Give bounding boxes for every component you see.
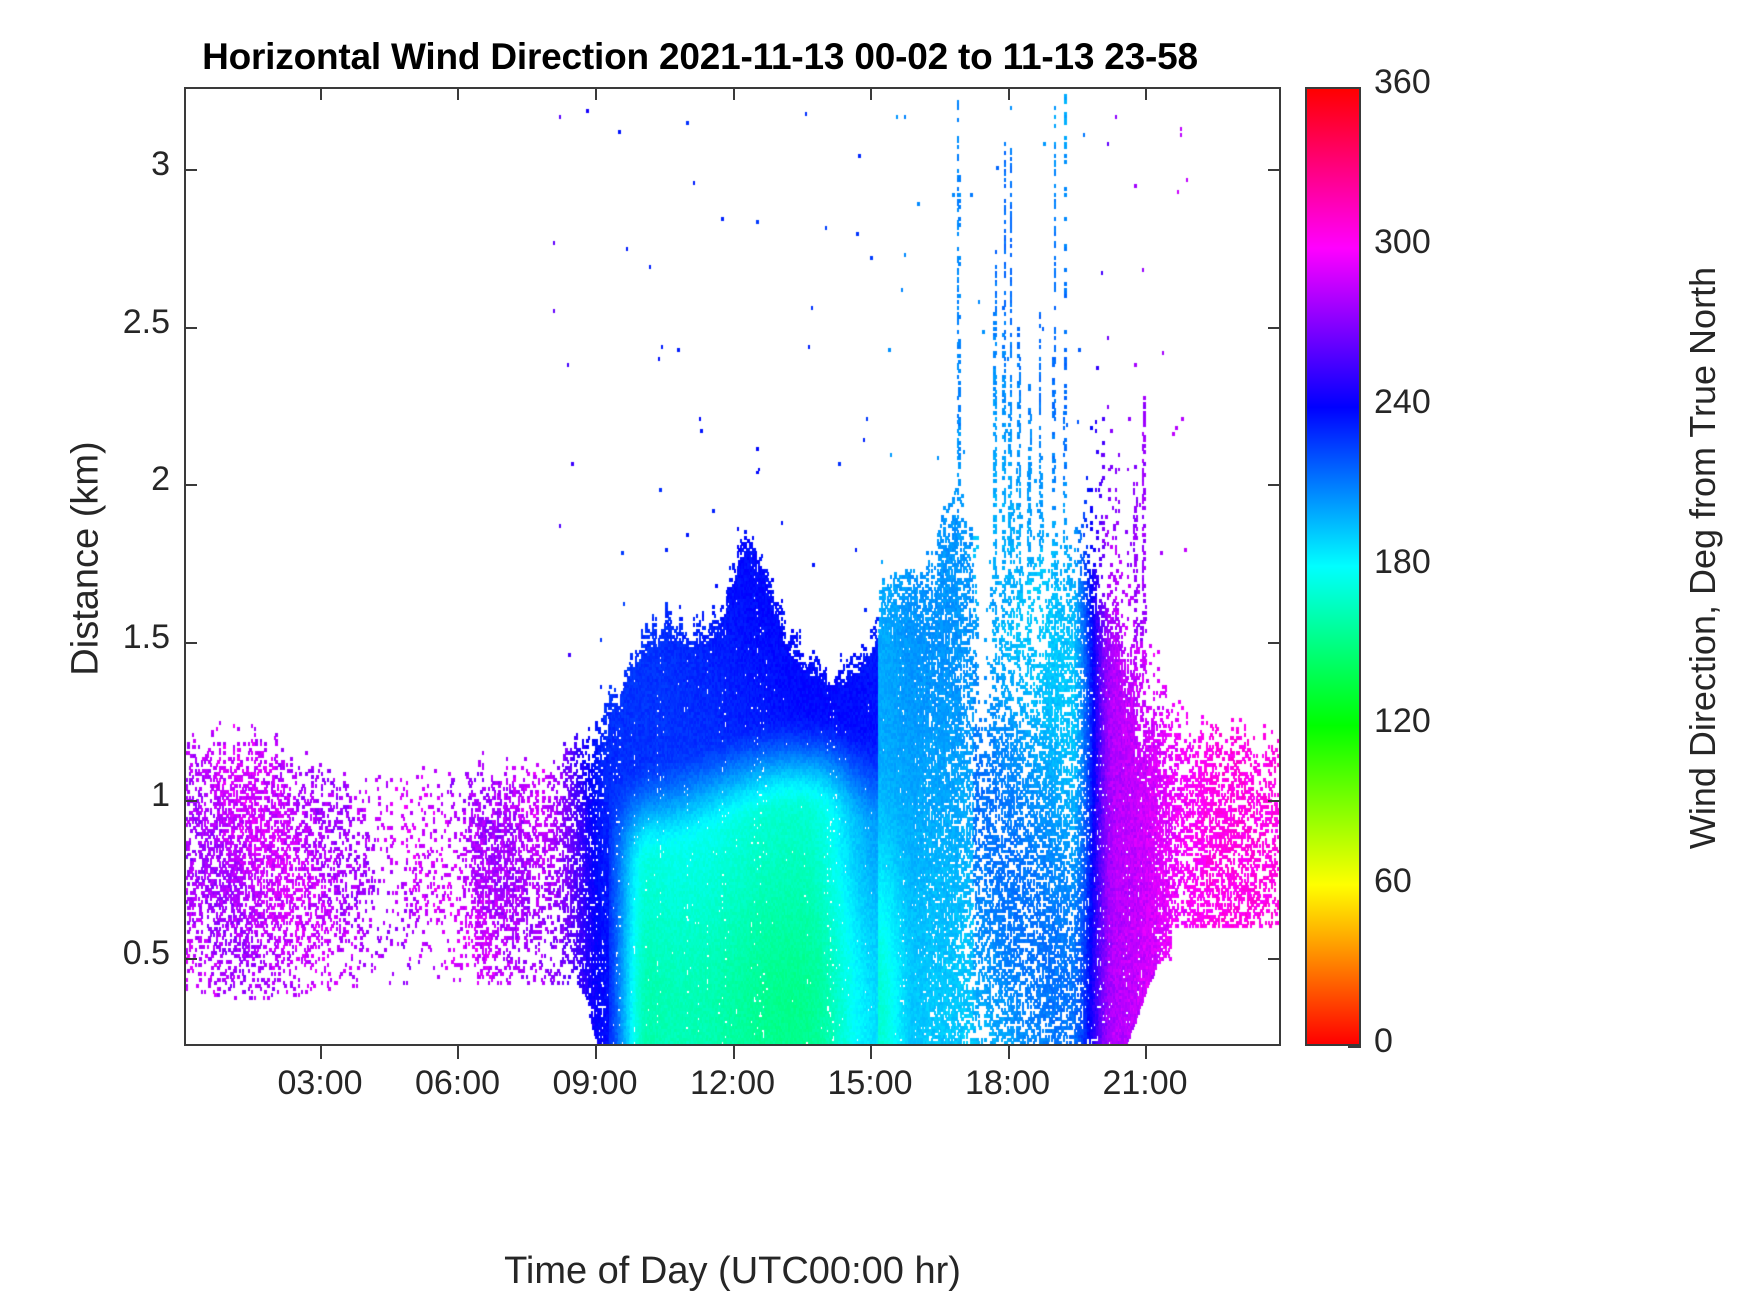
y-axis-label: Distance (km) <box>65 199 108 919</box>
colorbar-tick-label: 60 <box>1374 862 1412 901</box>
x-tick-top <box>457 87 459 100</box>
colorbar-tick-label: 180 <box>1374 543 1431 582</box>
x-tick-top <box>1145 87 1147 100</box>
colorbar-tick-label: 0 <box>1374 1022 1393 1061</box>
y-tick <box>184 642 197 644</box>
y-tick-right <box>1268 958 1281 960</box>
wind-direction-figure: Horizontal Wind Direction 2021-11-13 00-… <box>0 0 1750 1313</box>
y-tick-right <box>1268 642 1281 644</box>
colorbar-tick <box>1348 1046 1361 1048</box>
y-tick-right <box>1268 800 1281 802</box>
x-tick <box>320 1046 322 1059</box>
y-tick-right <box>1268 484 1281 486</box>
y-tick <box>184 484 197 486</box>
wind-direction-heatmap <box>186 89 1279 1044</box>
x-tick-top <box>1008 87 1010 100</box>
y-tick <box>184 169 197 171</box>
x-tick-top <box>595 87 597 100</box>
y-tick <box>184 800 197 802</box>
colorbar-gradient <box>1307 89 1359 1044</box>
colorbar <box>1305 87 1361 1046</box>
y-tick-right <box>1268 169 1281 171</box>
colorbar-tick-label: 360 <box>1374 63 1431 102</box>
x-tick <box>595 1046 597 1059</box>
plot-axes <box>184 87 1281 1046</box>
x-tick-top <box>870 87 872 100</box>
page-title: Horizontal Wind Direction 2021-11-13 00-… <box>0 36 1400 78</box>
y-tick-label: 3 <box>40 145 170 184</box>
x-tick <box>1145 1046 1147 1059</box>
y-tick <box>184 958 197 960</box>
x-axis-label: Time of Day (UTC00:00 hr) <box>184 1250 1281 1293</box>
colorbar-tick-label: 120 <box>1374 702 1431 741</box>
colorbar-label: Wind Direction, Deg from True North <box>1682 198 1724 918</box>
y-tick-label: 0.5 <box>40 934 170 973</box>
x-tick <box>733 1046 735 1059</box>
y-tick-right <box>1268 327 1281 329</box>
x-tick <box>870 1046 872 1059</box>
x-tick-top <box>320 87 322 100</box>
y-tick <box>184 327 197 329</box>
x-tick-label: 21:00 <box>1045 1064 1245 1103</box>
x-tick <box>1008 1046 1010 1059</box>
x-tick <box>457 1046 459 1059</box>
colorbar-tick-label: 300 <box>1374 223 1431 262</box>
colorbar-tick-label: 240 <box>1374 383 1431 422</box>
x-tick-top <box>733 87 735 100</box>
